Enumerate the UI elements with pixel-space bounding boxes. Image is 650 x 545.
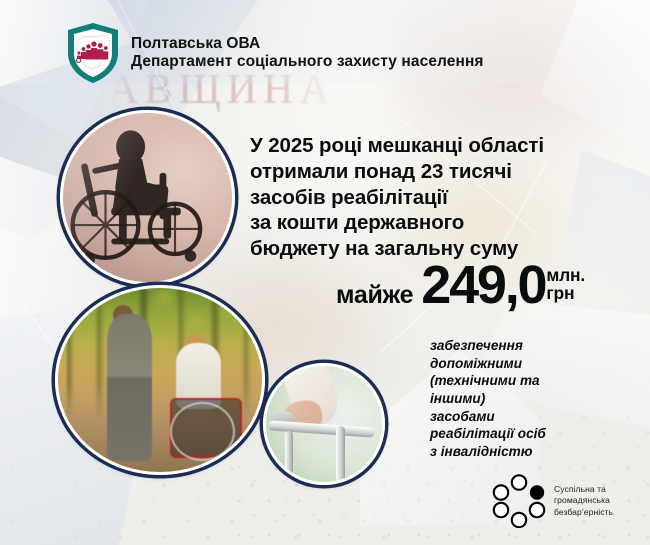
barrier-free-dots-icon	[492, 474, 546, 528]
note-line-1: забезпечення	[430, 337, 640, 355]
barrier-free-line-1: Суспільна та	[554, 484, 613, 495]
note-line-3: (технічними та	[430, 372, 640, 390]
amount-value: 249,0	[421, 262, 545, 308]
main-statement-line-2: отримали понад 23 тисячі	[250, 159, 642, 185]
poltava-shield-family-logo	[66, 22, 120, 84]
amount-unit-line-2: грн	[546, 284, 585, 302]
note-line-7: з інвалідністю	[430, 443, 640, 461]
org-name: Полтавська ОВА	[131, 35, 484, 53]
amount-highlight: майже 249,0 млн. грн	[336, 262, 585, 310]
department-name: Департамент соціального захисту населенн…	[131, 53, 484, 71]
photo-walker-hand	[263, 363, 385, 485]
main-statement-line-3: засобів реабілітації	[250, 185, 642, 211]
main-statement-line-1: У 2025 році мешканці області	[250, 133, 642, 159]
photo1-sheen	[63, 113, 232, 282]
photo3-walker-leg-left	[285, 431, 293, 482]
note-line-6: реабілітації осіб	[430, 425, 640, 443]
header: Полтавська ОВА Департамент соціального з…	[66, 22, 484, 84]
barrier-free-line-2: громадянська	[554, 495, 613, 506]
barrier-free-line-3: безбар’ерність	[554, 507, 613, 518]
amount-unit-line-1: млн.	[546, 266, 585, 284]
main-statement-line-4: за кошти державного	[250, 210, 642, 236]
photo2-man-figure	[107, 314, 152, 461]
main-statement: У 2025 році мешканці області отримали по…	[250, 133, 642, 262]
note-line-4: іншими)	[430, 390, 640, 408]
header-text-block: Полтавська ОВА Департамент соціального з…	[131, 35, 484, 72]
note-line-2: допоміжними	[430, 355, 640, 373]
photo-walker-hand-content	[266, 366, 382, 482]
photo-wheelchair-silhouette-content	[63, 113, 232, 282]
infographic-poster: АВЩИНА	[0, 0, 650, 545]
barrier-free-text: Суспільна та громадянська безбар’ерність	[554, 484, 613, 518]
photo-park-walk	[55, 285, 265, 475]
photo-wheelchair-silhouette	[60, 110, 235, 285]
photo3-walker-leg-right	[336, 426, 345, 482]
amount-prefix: майже	[336, 281, 421, 310]
note-line-5: засобами	[430, 408, 640, 426]
amount-unit: млн. грн	[546, 266, 585, 302]
photo-park-walk-content	[58, 288, 262, 472]
note-block: забезпечення допоміжними (технічними та …	[430, 337, 640, 461]
barrier-free-logo: Суспільна та громадянська безбар’ерність	[492, 474, 613, 528]
